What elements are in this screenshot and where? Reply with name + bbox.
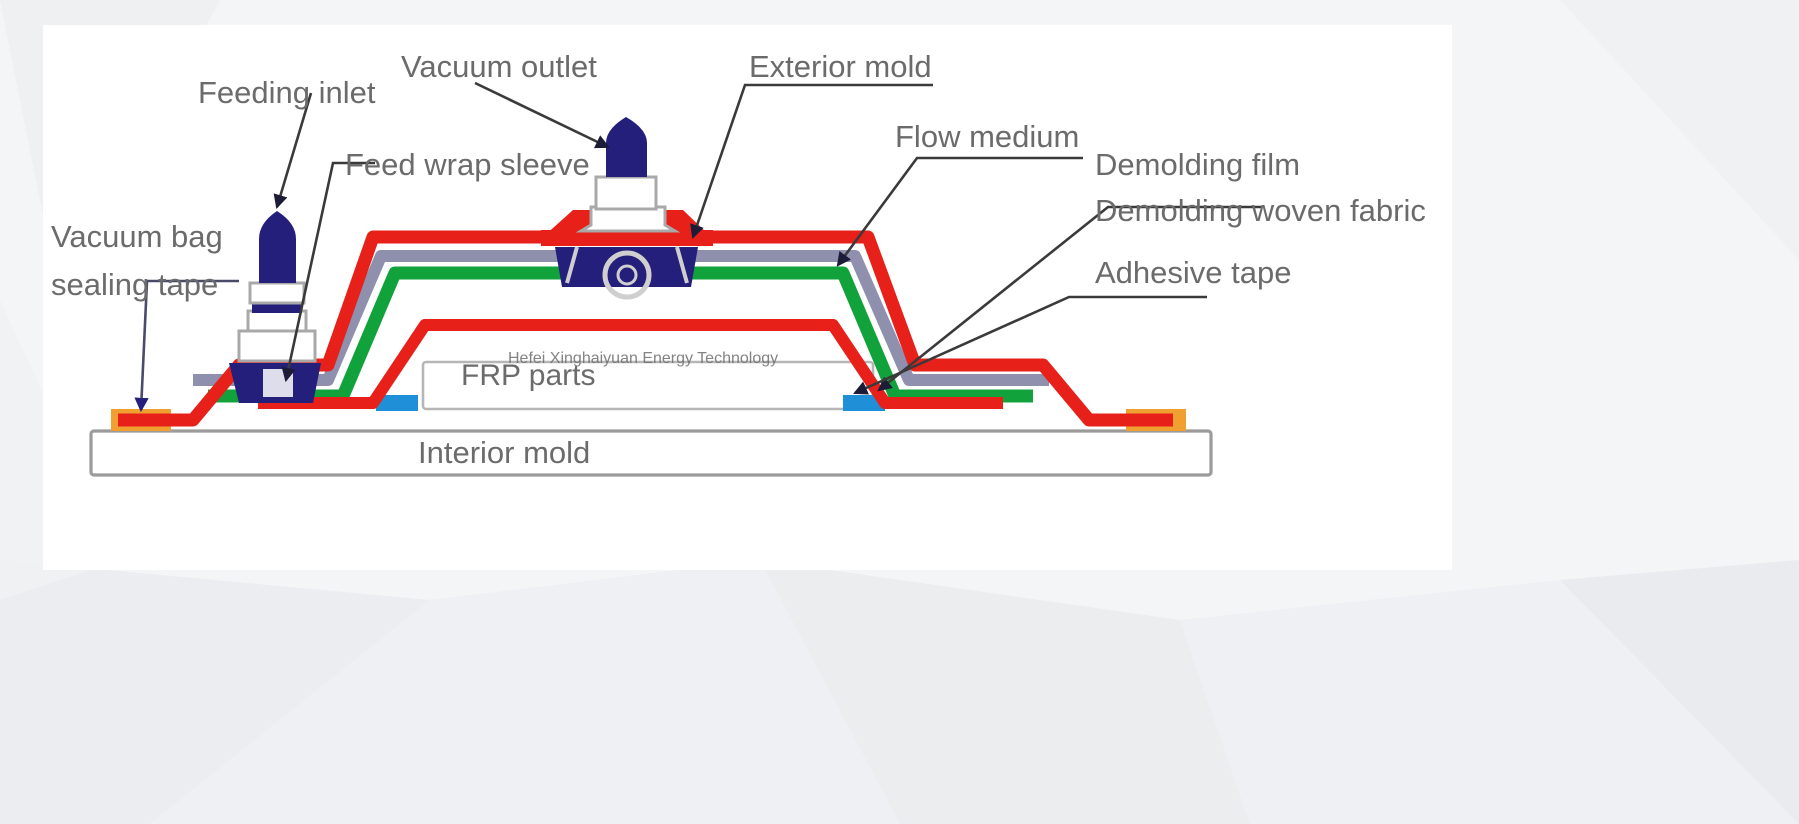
feeding-inlet-fitting — [229, 211, 321, 403]
label-interior-mold: Interior mold — [418, 435, 590, 470]
label-adhesive-tape: Adhesive tape — [1095, 255, 1291, 290]
label-demolding-woven-fabric: Demolding woven fabric — [1095, 193, 1426, 228]
interior-mold-plate — [91, 431, 1211, 475]
diagram-card: Vacuum bag sealing tape Feeding inlet Fe… — [43, 25, 1452, 570]
label-vacuum-bag-line1: Vacuum bag — [51, 219, 223, 254]
label-flow-medium: Flow medium — [895, 119, 1079, 154]
vacuum-outlet-fitting — [541, 117, 713, 297]
leader-feeding-inlet — [277, 93, 311, 207]
leader-exterior-mold — [693, 85, 933, 237]
label-exterior-mold: Exterior mold — [749, 49, 932, 84]
title-band: RTM Vacuum Closed Mold Introduction Proc… — [0, 570, 1799, 690]
label-vacuum-outlet: Vacuum outlet — [401, 49, 597, 84]
slide-canvas: Vacuum bag sealing tape Feeding inlet Fe… — [0, 0, 1799, 824]
label-demolding-film: Demolding film — [1095, 147, 1300, 182]
watermark-text: Hefei Xinghaiyuan Energy Technology — [508, 350, 778, 367]
leader-vacuum-outlet — [475, 83, 608, 147]
label-feed-wrap-sleeve: Feed wrap sleeve — [345, 147, 590, 182]
label-feeding-inlet: Feeding inlet — [198, 75, 376, 110]
rtm-process-schematic: Vacuum bag sealing tape Feeding inlet Fe… — [43, 25, 1452, 570]
label-vacuum-bag-line2: sealing tape — [51, 267, 218, 302]
